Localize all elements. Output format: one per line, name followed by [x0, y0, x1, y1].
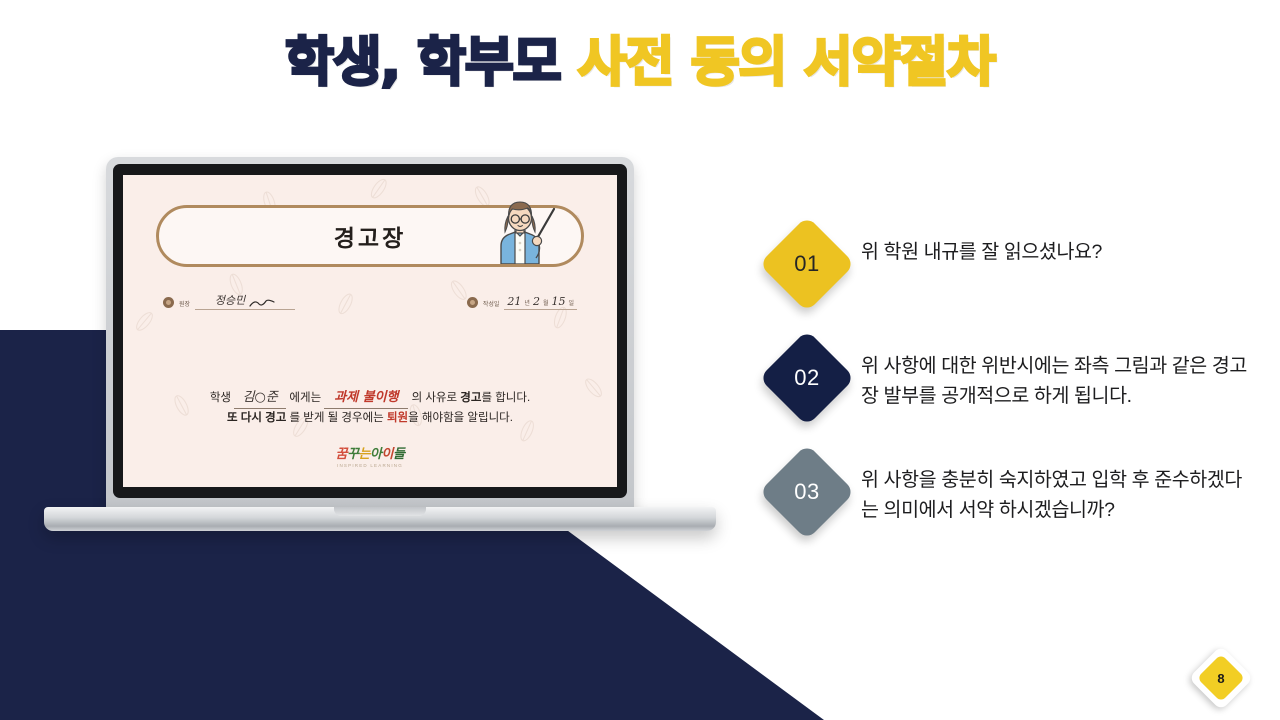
- body-mid: 에게는: [289, 392, 321, 404]
- step-text-01: 위 학원 내규를 잘 읽으셨나요?: [861, 222, 1257, 268]
- body-suffix-b: 를 합니다.: [481, 392, 530, 404]
- step-marker-03: 03: [757, 450, 861, 546]
- date-year-unit: 년: [524, 298, 530, 307]
- body-repeat-warning: 또 다시 경고: [227, 412, 286, 424]
- teacher-illustration-icon: [479, 196, 557, 264]
- date-day: 15: [551, 295, 565, 308]
- director-name: 정승민: [215, 292, 245, 308]
- title-segment-accent: 사전 동의 서약절차: [578, 32, 995, 93]
- date-line: 21 년 2 월 15 일: [504, 295, 577, 310]
- date-month: 2: [533, 295, 540, 308]
- signature-row: 원장 정승민 작성일 21: [163, 292, 577, 310]
- date-month-unit: 월: [543, 298, 549, 307]
- body-line2-mid: 를 받게 될 경우에는: [290, 412, 384, 424]
- step-text-03: 위 사항을 충분히 숙지하였고 입학 후 준수하겠다는 의미에서 서약 하시겠습…: [861, 450, 1257, 525]
- laptop-bezel: 경고장: [113, 164, 627, 498]
- director-signature-line: 정승민: [195, 292, 295, 310]
- director-label: 원장: [179, 299, 190, 308]
- signature-mark-icon: [249, 299, 275, 308]
- laptop-mockup: 경고장: [44, 157, 716, 542]
- warning-doc-header: 경고장: [156, 205, 584, 267]
- list-item: 03 위 사항을 충분히 숙지하였고 입학 후 준수하겠다는 의미에서 서약 하…: [757, 450, 1257, 546]
- page-title: 학생, 학부모 사전 동의 서약절차: [0, 34, 1280, 92]
- step-text-02: 위 사항에 대한 위반시에는 좌측 그림과 같은 경고장 발부를 공개적으로 하…: [861, 336, 1257, 411]
- laptop-base: [44, 507, 716, 531]
- slide-canvas: 학생, 학부모 사전 동의 서약절차: [0, 0, 1280, 720]
- page-number-text: 8: [1198, 655, 1244, 701]
- list-item: 01 위 학원 내규를 잘 읽으셨나요?: [757, 222, 1257, 318]
- date-label: 작성일: [483, 299, 500, 308]
- body-expulsion-word: 퇴원: [387, 412, 408, 424]
- body-suffix-a: 의 사유로: [412, 392, 458, 404]
- laptop-screen: 경고장: [123, 175, 617, 487]
- student-name-blank: 김○준: [234, 387, 286, 409]
- title-segment-dark: 학생, 학부모: [285, 32, 560, 93]
- steps-list: 01 위 학원 내규를 잘 읽으셨나요? 02 위 사항에 대한 위반시에는 좌…: [757, 222, 1257, 564]
- laptop-notch: [334, 507, 426, 516]
- list-item: 02 위 사항에 대한 위반시에는 좌측 그림과 같은 경고장 발부를 공개적으…: [757, 336, 1257, 432]
- academy-logo: 꿈꾸는아이들 INSPIRED LEARNING: [123, 443, 617, 468]
- date-group: 작성일 21 년 2 월 15 일: [467, 295, 577, 310]
- body-prefix: 학생: [210, 392, 231, 404]
- academy-logo-text: 꿈꾸는아이들: [123, 443, 617, 462]
- clock-icon: [467, 297, 478, 308]
- step-marker-02: 02: [757, 336, 861, 432]
- warning-body-line-1: 학생 김○준 에게는 과제 불이행 의 사유로 경고를 합니다.: [123, 387, 617, 409]
- step-number-02: 02: [773, 344, 841, 412]
- academy-logo-subtext: INSPIRED LEARNING: [123, 463, 617, 468]
- step-number-03: 03: [773, 458, 841, 526]
- step-number-01: 01: [773, 230, 841, 298]
- director-signature-group: 원장 정승민: [163, 292, 295, 310]
- step-marker-01: 01: [757, 222, 861, 318]
- body-warning-word: 경고: [460, 392, 481, 404]
- body-line2-suffix: 을 해야함을 알립니다.: [408, 412, 513, 424]
- warning-body-line-2: 또 다시 경고 를 받게 될 경우에는 퇴원을 해야함을 알립니다.: [123, 409, 617, 428]
- warning-doc-body: 학생 김○준 에게는 과제 불이행 의 사유로 경고를 합니다. 또 다시 경고…: [123, 387, 617, 428]
- reason-blank: 과제 불이행: [324, 387, 408, 409]
- date-day-unit: 일: [568, 298, 574, 307]
- laptop-lid: 경고장: [106, 157, 634, 512]
- date-year: 21: [507, 295, 521, 308]
- page-number-badge: 8: [1198, 655, 1244, 701]
- seal-icon: [163, 297, 174, 308]
